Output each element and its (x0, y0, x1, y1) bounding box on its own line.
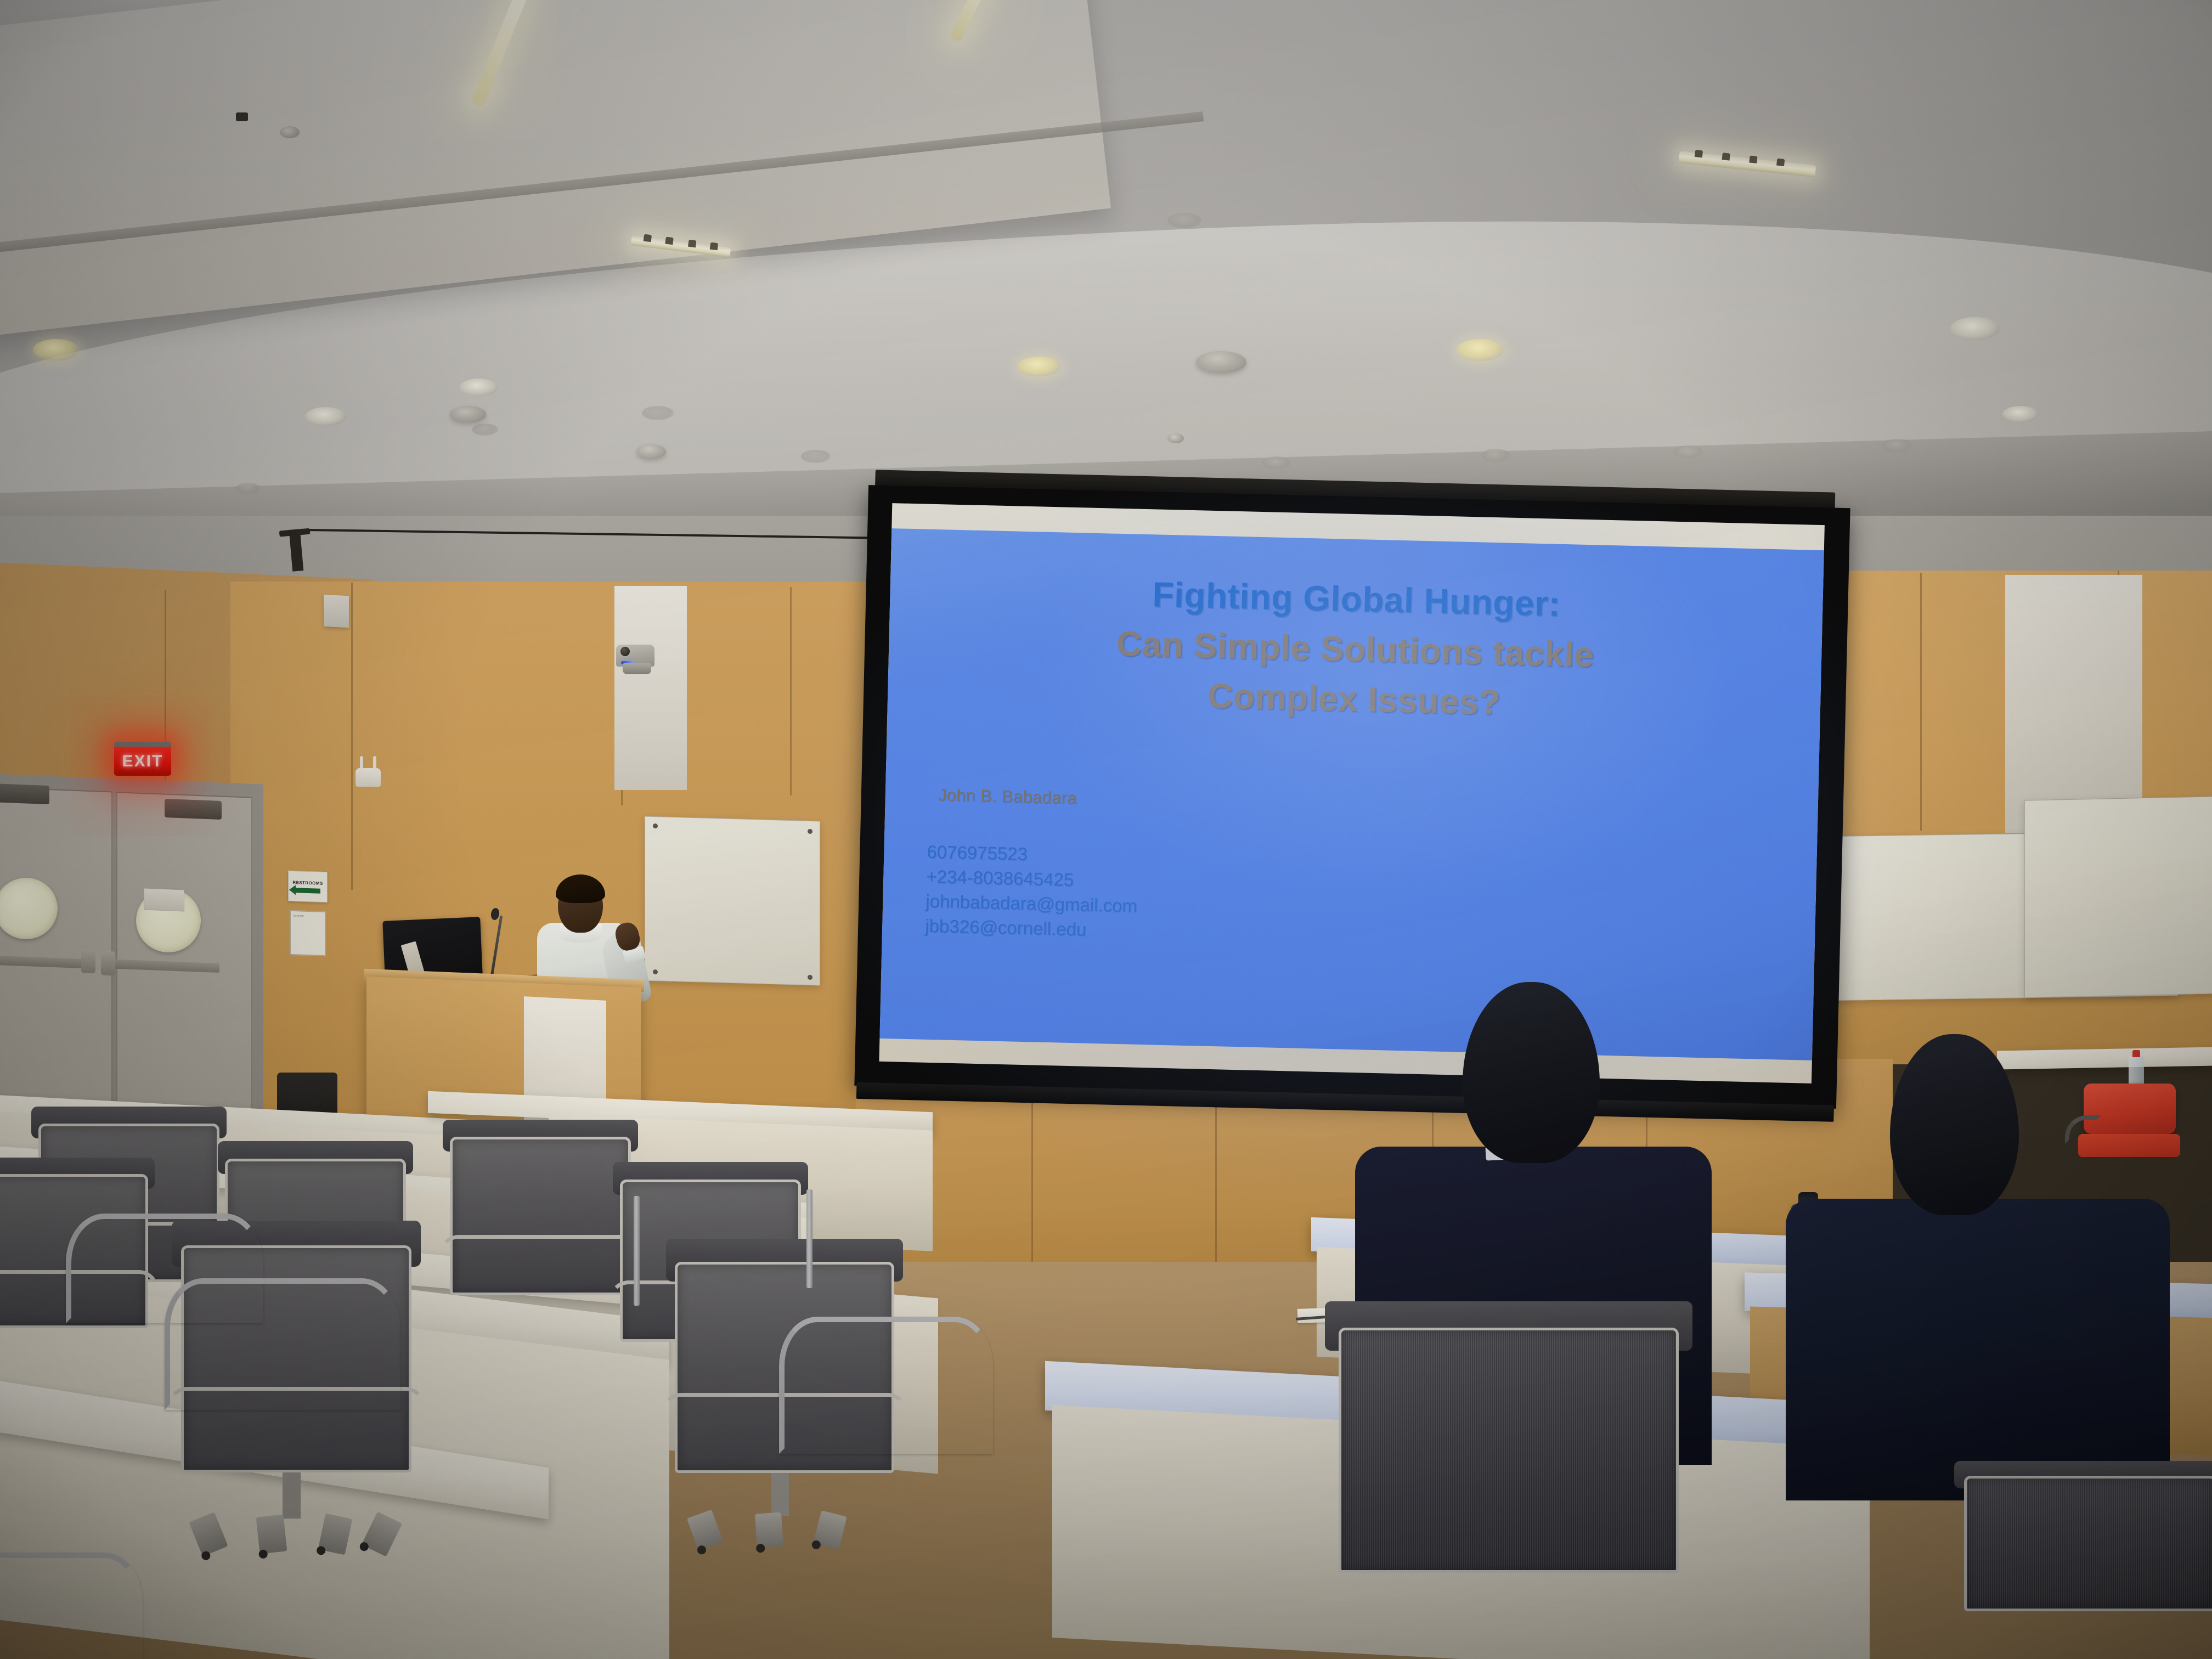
smoke-detector (450, 406, 486, 422)
audience-1-head (1463, 982, 1600, 1163)
ceiling-downlight (2002, 406, 2039, 422)
wall-panel-seam (790, 587, 792, 795)
slide-author-name: John B. Babadara (938, 785, 1077, 808)
chair-back (450, 1137, 631, 1295)
ceiling-sprinkler-head (1167, 433, 1184, 443)
door-latch-left[interactable] (81, 949, 95, 974)
restroom-sign: RESTROOMS (288, 871, 328, 903)
aisle-handrail-3 (779, 1317, 993, 1454)
whiteboard-center (645, 816, 820, 986)
ceiling-downlight (305, 407, 347, 426)
ceiling-downlight (460, 379, 498, 396)
ceiling-downlight-off (1262, 456, 1290, 470)
ceiling-downlight-off (1673, 445, 1703, 459)
wall-panel-light (614, 586, 687, 790)
contact-email-university: jbb326@cornell.edu (925, 913, 1137, 943)
wall-speaker (324, 595, 349, 628)
restroom-sign-label: RESTROOMS (292, 880, 323, 886)
door-latch-right[interactable] (101, 951, 115, 976)
ceiling-downlight-off (1882, 439, 1912, 453)
presentation-slide: Fighting Global Hunger: Can Simple Solut… (879, 528, 1824, 1060)
chair-back (1964, 1476, 2212, 1611)
door-closer-right (165, 799, 222, 820)
exit-sign: EXIT (114, 742, 171, 776)
ceiling-downlight-off (236, 483, 260, 494)
ceiling-downlight-off (642, 406, 674, 420)
wall-plate (144, 888, 184, 911)
ceiling-downlight (1018, 357, 1060, 376)
slide-title-block: Fighting Global Hunger: Can Simple Solut… (887, 563, 1823, 735)
ceiling-downlight-off (1167, 213, 1201, 228)
ceiling-downlight-off (801, 450, 831, 463)
smoke-detector (1196, 351, 1246, 373)
ceiling-downlight-off (472, 424, 498, 436)
aisle-handrail-4 (0, 1553, 143, 1659)
whiteboard-far-right (2024, 796, 2212, 997)
camera-lens-icon (620, 647, 630, 656)
audience-member-2 (1786, 1034, 2170, 1500)
presenter-hair (556, 874, 605, 903)
chair-pedestal (283, 1472, 301, 1519)
lecture-chair-4[interactable] (450, 1137, 631, 1351)
chair-armrest (439, 1235, 642, 1259)
audience-chair-2[interactable] (1964, 1476, 2212, 1659)
ceiling-downlight (1950, 317, 2000, 340)
wall-panel-seam (1920, 573, 1922, 831)
aisle-handrail-2 (165, 1278, 400, 1410)
restroom-left-arrow-icon (295, 888, 320, 894)
ceiling (0, 0, 2212, 549)
chair-back (1339, 1328, 1679, 1573)
camera-mount (623, 663, 651, 674)
slide-contact-block: 6076975523 +234-8038645425 johnbabadara@… (925, 840, 1139, 944)
chair-caster-base (684, 1510, 885, 1547)
chair-pedestal (771, 1473, 789, 1516)
audience-2-shoulders (1786, 1199, 2170, 1500)
ceiling-downlight (33, 339, 79, 361)
wall-panel-seam (351, 583, 353, 890)
chair-caster-base (190, 1513, 402, 1553)
handrail-post (806, 1189, 812, 1288)
exit-sign-label: EXIT (122, 752, 163, 771)
ceiling-downlight (1457, 339, 1504, 361)
wifi-access-point (356, 768, 381, 787)
door-closer-left (0, 783, 49, 804)
handrail-post (634, 1196, 640, 1306)
wall-panel-light (2005, 575, 2142, 833)
ceiling-sprinkler-head (280, 126, 300, 138)
audience-chair-1[interactable] (1339, 1328, 1679, 1659)
wall-notice-frame: NOTICE (290, 910, 326, 956)
notice-text: NOTICE (294, 914, 322, 919)
ceiling-downlight-off (1481, 449, 1510, 462)
smoke-detector (636, 444, 666, 459)
ptz-camera (616, 639, 658, 673)
lecture-hall-photo: EXIT RESTROOMS NOTICE (0, 0, 2212, 1659)
audience-2-head (1890, 1034, 2019, 1215)
ceiling-mount-bracket (236, 112, 248, 121)
